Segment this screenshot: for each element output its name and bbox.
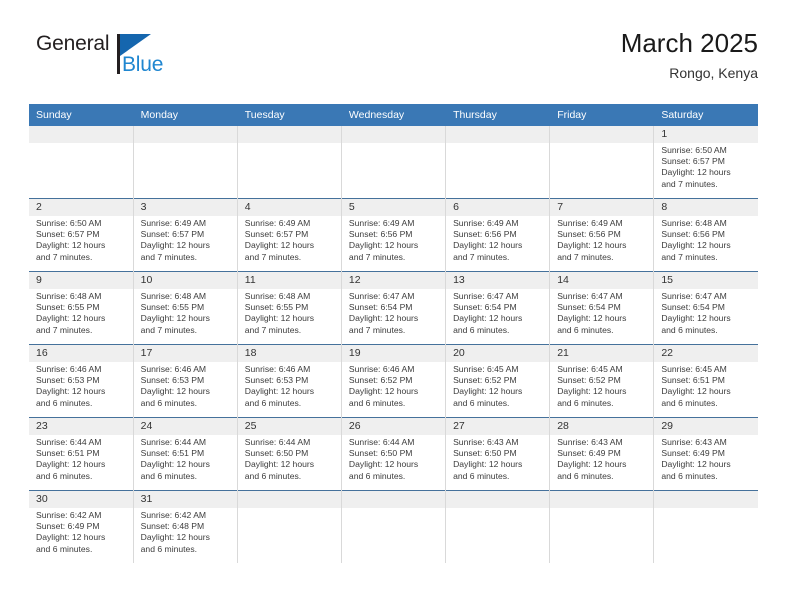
sunrise-time: Sunrise: 6:47 AM [453, 291, 544, 302]
day-number: 31 [134, 491, 237, 508]
sunrise-time: Sunrise: 6:46 AM [349, 364, 440, 375]
daylight-duration-line1: Daylight: 12 hours [453, 386, 544, 397]
day-number: 6 [446, 199, 549, 216]
daylight-duration-line1: Daylight: 12 hours [661, 167, 753, 178]
day-cell[interactable]: 17Sunrise: 6:46 AMSunset: 6:53 PMDayligh… [133, 345, 237, 418]
sunset-time: Sunset: 6:49 PM [661, 448, 753, 459]
day-number: 5 [342, 199, 445, 216]
day-cell-empty [446, 126, 550, 199]
day-cell-empty [237, 126, 341, 199]
daylight-duration-line2: and 6 minutes. [453, 325, 544, 336]
day-cell[interactable]: 23Sunrise: 6:44 AMSunset: 6:51 PMDayligh… [29, 418, 133, 491]
sunrise-time: Sunrise: 6:42 AM [36, 510, 128, 521]
day-number: 13 [446, 272, 549, 289]
daylight-duration-line1: Daylight: 12 hours [557, 240, 648, 251]
day-number: 24 [134, 418, 237, 435]
day-details: Sunrise: 6:50 AMSunset: 6:57 PMDaylight:… [654, 143, 758, 190]
weekday-header-tuesday: Tuesday [237, 104, 341, 126]
daylight-duration-line1: Daylight: 12 hours [141, 459, 232, 470]
sunrise-time: Sunrise: 6:44 AM [36, 437, 128, 448]
day-cell-empty [29, 126, 133, 199]
daylight-duration-line2: and 6 minutes. [453, 398, 544, 409]
day-cell[interactable]: 30Sunrise: 6:42 AMSunset: 6:49 PMDayligh… [29, 491, 133, 564]
day-number [550, 491, 653, 508]
day-details: Sunrise: 6:46 AMSunset: 6:53 PMDaylight:… [238, 362, 341, 409]
title-block: March 2025 Rongo, Kenya [621, 28, 758, 84]
sunrise-time: Sunrise: 6:44 AM [245, 437, 336, 448]
day-details: Sunrise: 6:49 AMSunset: 6:56 PMDaylight:… [342, 216, 445, 263]
day-number: 8 [654, 199, 758, 216]
day-cell[interactable]: 9Sunrise: 6:48 AMSunset: 6:55 PMDaylight… [29, 272, 133, 345]
daylight-duration-line2: and 6 minutes. [661, 398, 753, 409]
sunset-time: Sunset: 6:56 PM [453, 229, 544, 240]
day-details: Sunrise: 6:47 AMSunset: 6:54 PMDaylight:… [446, 289, 549, 336]
day-cell[interactable]: 2Sunrise: 6:50 AMSunset: 6:57 PMDaylight… [29, 199, 133, 272]
sunrise-time: Sunrise: 6:49 AM [557, 218, 648, 229]
sunrise-time: Sunrise: 6:48 AM [245, 291, 336, 302]
calendar-week-row: 1Sunrise: 6:50 AMSunset: 6:57 PMDaylight… [29, 126, 758, 199]
day-cell[interactable]: 11Sunrise: 6:48 AMSunset: 6:55 PMDayligh… [237, 272, 341, 345]
daylight-duration-line1: Daylight: 12 hours [453, 240, 544, 251]
day-number [446, 491, 549, 508]
daylight-duration-line2: and 7 minutes. [36, 252, 128, 263]
general-blue-logo[interactable]: General Blue [34, 32, 274, 88]
day-details: Sunrise: 6:48 AMSunset: 6:55 PMDaylight:… [134, 289, 237, 336]
day-cell[interactable]: 25Sunrise: 6:44 AMSunset: 6:50 PMDayligh… [237, 418, 341, 491]
day-cell[interactable]: 26Sunrise: 6:44 AMSunset: 6:50 PMDayligh… [341, 418, 445, 491]
day-cell-empty [237, 491, 341, 564]
daylight-duration-line1: Daylight: 12 hours [661, 313, 753, 324]
day-cell[interactable]: 24Sunrise: 6:44 AMSunset: 6:51 PMDayligh… [133, 418, 237, 491]
day-number: 28 [550, 418, 653, 435]
calendar-page: General Blue March 2025 Rongo, Kenya Sun… [0, 0, 792, 612]
daylight-duration-line1: Daylight: 12 hours [453, 313, 544, 324]
day-number: 7 [550, 199, 653, 216]
daylight-duration-line2: and 6 minutes. [245, 398, 336, 409]
sunrise-time: Sunrise: 6:45 AM [557, 364, 648, 375]
sunset-time: Sunset: 6:50 PM [349, 448, 440, 459]
day-number: 26 [342, 418, 445, 435]
day-details: Sunrise: 6:50 AMSunset: 6:57 PMDaylight:… [29, 216, 133, 263]
daylight-duration-line1: Daylight: 12 hours [661, 459, 753, 470]
day-details: Sunrise: 6:44 AMSunset: 6:51 PMDaylight:… [29, 435, 133, 482]
daylight-duration-line1: Daylight: 12 hours [349, 313, 440, 324]
calendar-week-row: 2Sunrise: 6:50 AMSunset: 6:57 PMDaylight… [29, 199, 758, 272]
day-cell-empty [341, 126, 445, 199]
sunset-time: Sunset: 6:55 PM [36, 302, 128, 313]
sunrise-time: Sunrise: 6:43 AM [557, 437, 648, 448]
sunrise-time: Sunrise: 6:49 AM [349, 218, 440, 229]
daylight-duration-line2: and 7 minutes. [349, 325, 440, 336]
daylight-duration-line2: and 7 minutes. [245, 252, 336, 263]
day-details: Sunrise: 6:42 AMSunset: 6:49 PMDaylight:… [29, 508, 133, 555]
daylight-duration-line1: Daylight: 12 hours [349, 240, 440, 251]
calendar-week-row: 16Sunrise: 6:46 AMSunset: 6:53 PMDayligh… [29, 345, 758, 418]
day-cell[interactable]: 29Sunrise: 6:43 AMSunset: 6:49 PMDayligh… [654, 418, 758, 491]
day-cell[interactable]: 19Sunrise: 6:46 AMSunset: 6:52 PMDayligh… [341, 345, 445, 418]
day-number [342, 491, 445, 508]
day-details: Sunrise: 6:47 AMSunset: 6:54 PMDaylight:… [654, 289, 758, 336]
day-cell[interactable]: 16Sunrise: 6:46 AMSunset: 6:53 PMDayligh… [29, 345, 133, 418]
day-details: Sunrise: 6:48 AMSunset: 6:55 PMDaylight:… [238, 289, 341, 336]
day-number: 19 [342, 345, 445, 362]
sunrise-time: Sunrise: 6:49 AM [141, 218, 232, 229]
day-number: 12 [342, 272, 445, 289]
day-details: Sunrise: 6:45 AMSunset: 6:51 PMDaylight:… [654, 362, 758, 409]
day-number: 25 [238, 418, 341, 435]
day-number: 11 [238, 272, 341, 289]
daylight-duration-line1: Daylight: 12 hours [36, 532, 128, 543]
daylight-duration-line2: and 6 minutes. [36, 398, 128, 409]
day-cell[interactable]: 22Sunrise: 6:45 AMSunset: 6:51 PMDayligh… [654, 345, 758, 418]
day-cell[interactable]: 18Sunrise: 6:46 AMSunset: 6:53 PMDayligh… [237, 345, 341, 418]
calendar-week-row: 9Sunrise: 6:48 AMSunset: 6:55 PMDaylight… [29, 272, 758, 345]
day-number: 17 [134, 345, 237, 362]
sunset-time: Sunset: 6:50 PM [453, 448, 544, 459]
day-cell-empty [550, 126, 654, 199]
sunrise-time: Sunrise: 6:45 AM [661, 364, 753, 375]
sunrise-time: Sunrise: 6:44 AM [141, 437, 232, 448]
sunset-time: Sunset: 6:52 PM [557, 375, 648, 386]
day-cell-empty [446, 491, 550, 564]
day-cell[interactable]: 1Sunrise: 6:50 AMSunset: 6:57 PMDaylight… [654, 126, 758, 199]
daylight-duration-line1: Daylight: 12 hours [141, 313, 232, 324]
day-cell[interactable]: 7Sunrise: 6:49 AMSunset: 6:56 PMDaylight… [550, 199, 654, 272]
daylight-duration-line1: Daylight: 12 hours [453, 459, 544, 470]
sunset-time: Sunset: 6:53 PM [36, 375, 128, 386]
daylight-duration-line2: and 7 minutes. [453, 252, 544, 263]
sunset-time: Sunset: 6:51 PM [141, 448, 232, 459]
day-number: 10 [134, 272, 237, 289]
day-details: Sunrise: 6:42 AMSunset: 6:48 PMDaylight:… [134, 508, 237, 555]
daylight-duration-line2: and 6 minutes. [453, 471, 544, 482]
sunset-time: Sunset: 6:55 PM [141, 302, 232, 313]
location-subtitle: Rongo, Kenya [621, 62, 758, 84]
sunrise-time: Sunrise: 6:42 AM [141, 510, 232, 521]
daylight-duration-line2: and 6 minutes. [141, 471, 232, 482]
daylight-duration-line2: and 7 minutes. [36, 325, 128, 336]
day-details: Sunrise: 6:44 AMSunset: 6:50 PMDaylight:… [342, 435, 445, 482]
sunset-time: Sunset: 6:53 PM [141, 375, 232, 386]
day-number: 1 [654, 126, 758, 143]
day-number [238, 491, 341, 508]
daylight-duration-line2: and 7 minutes. [661, 252, 753, 263]
sunset-time: Sunset: 6:54 PM [661, 302, 753, 313]
day-number: 21 [550, 345, 653, 362]
sunrise-time: Sunrise: 6:50 AM [36, 218, 128, 229]
day-number [238, 126, 341, 143]
day-details: Sunrise: 6:48 AMSunset: 6:56 PMDaylight:… [654, 216, 758, 263]
sunset-time: Sunset: 6:53 PM [245, 375, 336, 386]
day-number: 9 [29, 272, 133, 289]
day-number [654, 491, 758, 508]
day-details: Sunrise: 6:45 AMSunset: 6:52 PMDaylight:… [446, 362, 549, 409]
day-number [134, 126, 237, 143]
daylight-duration-line2: and 6 minutes. [36, 471, 128, 482]
weekday-header-sunday: Sunday [29, 104, 133, 126]
logo-text-general: General [36, 32, 109, 56]
day-number: 20 [446, 345, 549, 362]
sunset-time: Sunset: 6:57 PM [36, 229, 128, 240]
day-cell[interactable]: 5Sunrise: 6:49 AMSunset: 6:56 PMDaylight… [341, 199, 445, 272]
daylight-duration-line1: Daylight: 12 hours [349, 386, 440, 397]
sunset-time: Sunset: 6:54 PM [453, 302, 544, 313]
daylight-duration-line2: and 7 minutes. [141, 325, 232, 336]
sunset-time: Sunset: 6:52 PM [349, 375, 440, 386]
day-details: Sunrise: 6:43 AMSunset: 6:49 PMDaylight:… [550, 435, 653, 482]
day-details: Sunrise: 6:44 AMSunset: 6:51 PMDaylight:… [134, 435, 237, 482]
day-cell[interactable]: 14Sunrise: 6:47 AMSunset: 6:54 PMDayligh… [550, 272, 654, 345]
day-cell[interactable]: 4Sunrise: 6:49 AMSunset: 6:57 PMDaylight… [237, 199, 341, 272]
daylight-duration-line1: Daylight: 12 hours [245, 386, 336, 397]
weekday-header-wednesday: Wednesday [341, 104, 445, 126]
daylight-duration-line1: Daylight: 12 hours [349, 459, 440, 470]
sunset-time: Sunset: 6:48 PM [141, 521, 232, 532]
sunrise-time: Sunrise: 6:45 AM [453, 364, 544, 375]
daylight-duration-line1: Daylight: 12 hours [557, 313, 648, 324]
sunrise-time: Sunrise: 6:49 AM [453, 218, 544, 229]
sunset-time: Sunset: 6:51 PM [36, 448, 128, 459]
day-cell[interactable]: 12Sunrise: 6:47 AMSunset: 6:54 PMDayligh… [341, 272, 445, 345]
daylight-duration-line1: Daylight: 12 hours [557, 459, 648, 470]
daylight-duration-line2: and 6 minutes. [141, 398, 232, 409]
logo-text-blue: Blue [122, 53, 163, 77]
day-cell-empty [341, 491, 445, 564]
day-cell[interactable]: 3Sunrise: 6:49 AMSunset: 6:57 PMDaylight… [133, 199, 237, 272]
day-details: Sunrise: 6:43 AMSunset: 6:50 PMDaylight:… [446, 435, 549, 482]
day-number [342, 126, 445, 143]
day-cell[interactable]: 27Sunrise: 6:43 AMSunset: 6:50 PMDayligh… [446, 418, 550, 491]
day-number: 16 [29, 345, 133, 362]
sunrise-time: Sunrise: 6:48 AM [36, 291, 128, 302]
day-cell[interactable]: 31Sunrise: 6:42 AMSunset: 6:48 PMDayligh… [133, 491, 237, 564]
day-details: Sunrise: 6:49 AMSunset: 6:57 PMDaylight:… [238, 216, 341, 263]
daylight-duration-line1: Daylight: 12 hours [141, 240, 232, 251]
sunrise-time: Sunrise: 6:44 AM [349, 437, 440, 448]
daylight-duration-line2: and 6 minutes. [349, 398, 440, 409]
day-number: 22 [654, 345, 758, 362]
day-details: Sunrise: 6:48 AMSunset: 6:55 PMDaylight:… [29, 289, 133, 336]
day-number [550, 126, 653, 143]
day-number [29, 126, 133, 143]
daylight-duration-line1: Daylight: 12 hours [141, 386, 232, 397]
sunrise-time: Sunrise: 6:48 AM [661, 218, 753, 229]
daylight-duration-line1: Daylight: 12 hours [245, 459, 336, 470]
calendar-body: 1Sunrise: 6:50 AMSunset: 6:57 PMDaylight… [29, 126, 758, 563]
day-number [446, 126, 549, 143]
daylight-duration-line1: Daylight: 12 hours [245, 313, 336, 324]
day-cell-empty [133, 126, 237, 199]
sunset-time: Sunset: 6:55 PM [245, 302, 336, 313]
day-cell[interactable]: 21Sunrise: 6:45 AMSunset: 6:52 PMDayligh… [550, 345, 654, 418]
sunset-time: Sunset: 6:49 PM [36, 521, 128, 532]
sunset-time: Sunset: 6:51 PM [661, 375, 753, 386]
weekday-header-friday: Friday [550, 104, 654, 126]
sunrise-time: Sunrise: 6:47 AM [349, 291, 440, 302]
daylight-duration-line1: Daylight: 12 hours [36, 313, 128, 324]
sunset-time: Sunset: 6:52 PM [453, 375, 544, 386]
day-details: Sunrise: 6:49 AMSunset: 6:56 PMDaylight:… [550, 216, 653, 263]
sunrise-time: Sunrise: 6:43 AM [661, 437, 753, 448]
sunrise-time: Sunrise: 6:46 AM [36, 364, 128, 375]
page-header: General Blue March 2025 Rongo, Kenya [34, 28, 758, 90]
daylight-duration-line2: and 7 minutes. [661, 179, 753, 190]
daylight-duration-line2: and 6 minutes. [141, 544, 232, 555]
day-details: Sunrise: 6:44 AMSunset: 6:50 PMDaylight:… [238, 435, 341, 482]
daylight-duration-line1: Daylight: 12 hours [36, 459, 128, 470]
day-details: Sunrise: 6:47 AMSunset: 6:54 PMDaylight:… [550, 289, 653, 336]
page-title: March 2025 [621, 28, 758, 58]
sunset-time: Sunset: 6:54 PM [557, 302, 648, 313]
day-cell[interactable]: 28Sunrise: 6:43 AMSunset: 6:49 PMDayligh… [550, 418, 654, 491]
day-number: 4 [238, 199, 341, 216]
daylight-duration-line2: and 6 minutes. [661, 471, 753, 482]
sunrise-time: Sunrise: 6:47 AM [557, 291, 648, 302]
day-details: Sunrise: 6:46 AMSunset: 6:52 PMDaylight:… [342, 362, 445, 409]
sunset-time: Sunset: 6:56 PM [349, 229, 440, 240]
weekday-header-thursday: Thursday [446, 104, 550, 126]
daylight-duration-line1: Daylight: 12 hours [557, 386, 648, 397]
sunrise-time: Sunrise: 6:49 AM [245, 218, 336, 229]
sunrise-time: Sunrise: 6:46 AM [245, 364, 336, 375]
day-details: Sunrise: 6:45 AMSunset: 6:52 PMDaylight:… [550, 362, 653, 409]
sunset-time: Sunset: 6:57 PM [661, 156, 753, 167]
day-details: Sunrise: 6:46 AMSunset: 6:53 PMDaylight:… [29, 362, 133, 409]
daylight-duration-line2: and 6 minutes. [557, 325, 648, 336]
calendar-week-row: 30Sunrise: 6:42 AMSunset: 6:49 PMDayligh… [29, 491, 758, 564]
daylight-duration-line1: Daylight: 12 hours [36, 386, 128, 397]
day-number: 18 [238, 345, 341, 362]
calendar-week-row: 23Sunrise: 6:44 AMSunset: 6:51 PMDayligh… [29, 418, 758, 491]
weekday-header-saturday: Saturday [654, 104, 758, 126]
day-number: 29 [654, 418, 758, 435]
daylight-duration-line1: Daylight: 12 hours [661, 240, 753, 251]
day-number: 23 [29, 418, 133, 435]
day-cell[interactable]: 13Sunrise: 6:47 AMSunset: 6:54 PMDayligh… [446, 272, 550, 345]
day-number: 2 [29, 199, 133, 216]
daylight-duration-line2: and 7 minutes. [245, 325, 336, 336]
day-number: 27 [446, 418, 549, 435]
daylight-duration-line2: and 6 minutes. [661, 325, 753, 336]
sunset-time: Sunset: 6:57 PM [245, 229, 336, 240]
daylight-duration-line2: and 6 minutes. [557, 398, 648, 409]
day-cell[interactable]: 6Sunrise: 6:49 AMSunset: 6:56 PMDaylight… [446, 199, 550, 272]
daylight-duration-line1: Daylight: 12 hours [141, 532, 232, 543]
sunrise-time: Sunrise: 6:50 AM [661, 145, 753, 156]
day-number: 15 [654, 272, 758, 289]
daylight-duration-line2: and 6 minutes. [349, 471, 440, 482]
daylight-duration-line2: and 7 minutes. [141, 252, 232, 263]
sunset-time: Sunset: 6:56 PM [661, 229, 753, 240]
sunrise-time: Sunrise: 6:47 AM [661, 291, 753, 302]
daylight-duration-line2: and 6 minutes. [245, 471, 336, 482]
day-details: Sunrise: 6:43 AMSunset: 6:49 PMDaylight:… [654, 435, 758, 482]
sunset-time: Sunset: 6:49 PM [557, 448, 648, 459]
day-number: 3 [134, 199, 237, 216]
day-details: Sunrise: 6:47 AMSunset: 6:54 PMDaylight:… [342, 289, 445, 336]
daylight-duration-line2: and 6 minutes. [557, 471, 648, 482]
day-cell[interactable]: 10Sunrise: 6:48 AMSunset: 6:55 PMDayligh… [133, 272, 237, 345]
day-number: 14 [550, 272, 653, 289]
weekday-header-monday: Monday [133, 104, 237, 126]
day-details: Sunrise: 6:49 AMSunset: 6:57 PMDaylight:… [134, 216, 237, 263]
daylight-duration-line1: Daylight: 12 hours [36, 240, 128, 251]
day-cell[interactable]: 8Sunrise: 6:48 AMSunset: 6:56 PMDaylight… [654, 199, 758, 272]
calendar-table: Sunday Monday Tuesday Wednesday Thursday… [29, 104, 758, 563]
daylight-duration-line2: and 7 minutes. [349, 252, 440, 263]
sunset-time: Sunset: 6:56 PM [557, 229, 648, 240]
daylight-duration-line1: Daylight: 12 hours [661, 386, 753, 397]
day-cell-empty [654, 491, 758, 564]
calendar-header-row: Sunday Monday Tuesday Wednesday Thursday… [29, 104, 758, 126]
daylight-duration-line1: Daylight: 12 hours [245, 240, 336, 251]
sunrise-time: Sunrise: 6:48 AM [141, 291, 232, 302]
sunrise-time: Sunrise: 6:43 AM [453, 437, 544, 448]
sunset-time: Sunset: 6:57 PM [141, 229, 232, 240]
day-cell[interactable]: 20Sunrise: 6:45 AMSunset: 6:52 PMDayligh… [446, 345, 550, 418]
daylight-duration-line2: and 7 minutes. [557, 252, 648, 263]
day-details: Sunrise: 6:49 AMSunset: 6:56 PMDaylight:… [446, 216, 549, 263]
sunrise-time: Sunrise: 6:46 AM [141, 364, 232, 375]
sunset-time: Sunset: 6:54 PM [349, 302, 440, 313]
day-cell-empty [550, 491, 654, 564]
day-cell[interactable]: 15Sunrise: 6:47 AMSunset: 6:54 PMDayligh… [654, 272, 758, 345]
day-details: Sunrise: 6:46 AMSunset: 6:53 PMDaylight:… [134, 362, 237, 409]
daylight-duration-line2: and 6 minutes. [36, 544, 128, 555]
sunset-time: Sunset: 6:50 PM [245, 448, 336, 459]
day-number: 30 [29, 491, 133, 508]
